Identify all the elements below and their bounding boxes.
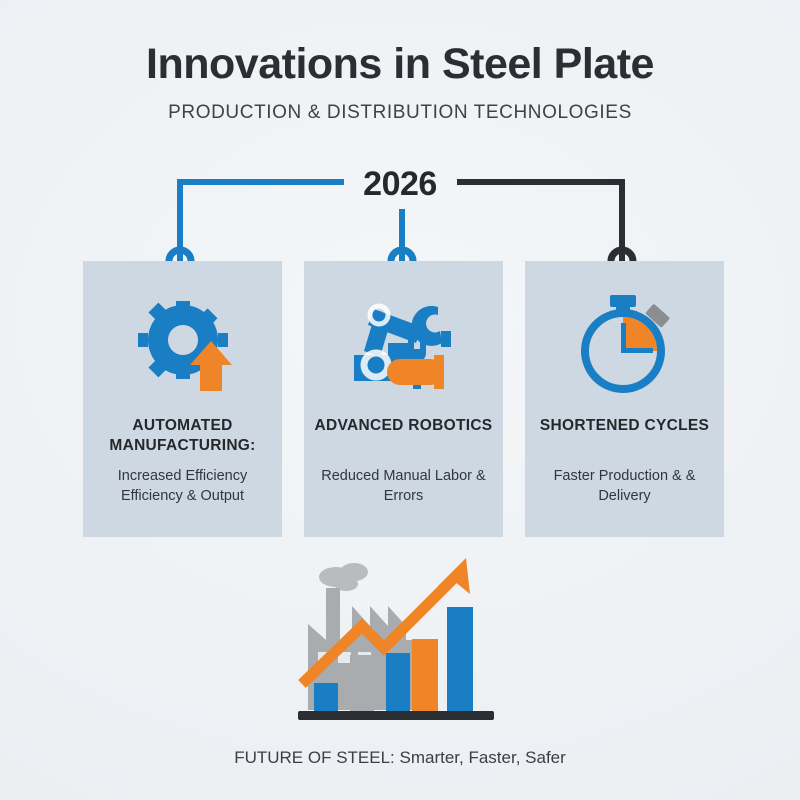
smoke-plume (319, 563, 368, 591)
growth-chart-illustration (280, 548, 520, 728)
infographic-root: Innovations in Steel Plate PRODUCTION & … (0, 0, 800, 800)
card-heading: ADVANCED ROBOTICS (312, 416, 495, 436)
bar-4 (412, 639, 438, 711)
card-body: Increased Efficiency Efficiency & Output (89, 466, 276, 506)
card-heading: AUTOMATED MANUFACTURING: (91, 416, 274, 456)
card-automated-manufacturing[interactable]: AUTOMATED MANUFACTURING: Increased Effic… (83, 261, 282, 537)
cards-row: AUTOMATED MANUFACTURING: Increased Effic… (0, 261, 800, 537)
robotic-arm-wrench-icon (304, 285, 503, 405)
card-heading: SHORTENED CYCLES (533, 416, 716, 436)
growth-chart-graphic (280, 548, 520, 728)
bar-2 (350, 655, 374, 711)
timeline-left-branch (180, 182, 341, 260)
card-advanced-robotics[interactable]: ADVANCED ROBOTICS Reduced Manual Labor &… (304, 261, 503, 537)
card-shortened-cycles[interactable]: SHORTENED CYCLES Faster Production & & D… (525, 261, 724, 537)
page-title: Innovations in Steel Plate (0, 40, 800, 89)
timeline-year-label: 2026 (340, 165, 460, 204)
bar-1 (314, 683, 338, 711)
card-body: Faster Production & & Delivery (531, 466, 718, 506)
footer-tagline: FUTURE OF STEEL: Smarter, Faster, Safer (0, 748, 800, 768)
gear-up-arrow-icon (83, 285, 282, 405)
page-subtitle: PRODUCTION & DISTRIBUTION TECHNOLOGIES (0, 102, 800, 124)
card-body: Reduced Manual Labor & Errors (310, 466, 497, 506)
bar-5 (447, 607, 473, 711)
chart-baseline (298, 711, 494, 720)
timeline-right-branch (460, 182, 622, 260)
stopwatch-icon (525, 285, 724, 405)
bar-3 (386, 653, 410, 711)
